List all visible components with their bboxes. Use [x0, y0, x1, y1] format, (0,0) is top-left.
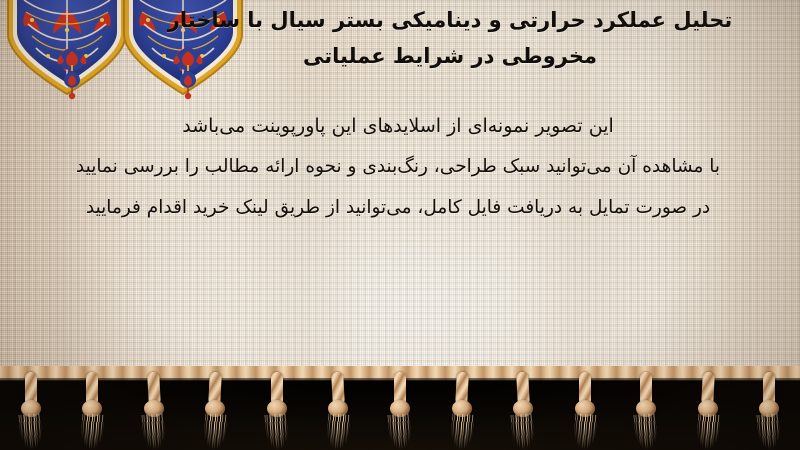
tassel-skirt [141, 413, 166, 450]
knotted-tassel-fringe [0, 366, 800, 450]
fringe-tassel [510, 372, 536, 450]
tassel-skirt [572, 413, 597, 450]
slide-body-line-3: در صورت تمایل به دریافت فایل کامل، می‌تو… [18, 188, 778, 228]
fringe-tassel [387, 372, 413, 450]
tassel-skirt [695, 413, 720, 450]
fringe-tassel [756, 372, 782, 450]
fringe-tassel [202, 372, 228, 450]
tassel-skirt [634, 413, 659, 450]
slide-title-line-2: مخروطی در شرایط عملیاتی [303, 44, 597, 68]
tassel-skirt [449, 413, 474, 450]
slide-title: تحلیل عملکرد حرارتی و دینامیکی بستر سیال… [130, 2, 770, 74]
tassel-skirt [387, 413, 412, 450]
tassel-skirt [203, 413, 228, 450]
slide-body-line-2: با مشاهده آن می‌توانید سبک طراحی، رنگ‌بن… [18, 147, 778, 187]
slide-title-line-1: تحلیل عملکرد حرارتی و دینامیکی بستر سیال… [168, 8, 732, 32]
fringe-tassel [264, 372, 290, 450]
slide-body-line-1: این تصویر نمونه‌ای از اسلایدهای این پاور… [18, 106, 778, 147]
fringe-tassel [633, 372, 659, 450]
fringe-tassel [18, 372, 44, 450]
slide-body: این تصویر نمونه‌ای از اسلایدهای این پاور… [18, 106, 778, 228]
tassel-skirt [757, 413, 782, 450]
fringe-tassel [141, 372, 167, 450]
slide-text-layer: تحلیل عملکرد حرارتی و دینامیکی بستر سیال… [0, 0, 800, 392]
fringe-tassel [572, 372, 598, 450]
fringe-tassel [79, 372, 105, 450]
tassel-skirt [326, 413, 351, 450]
fringe-tassel [449, 372, 475, 450]
tassel-skirt [510, 413, 535, 450]
presentation-slide: تحلیل عملکرد حرارتی و دینامیکی بستر سیال… [0, 0, 800, 450]
fringe-tassel [325, 372, 351, 450]
tassel-skirt [80, 413, 105, 450]
fringe-tassel [695, 372, 721, 450]
tassel-skirt [18, 413, 43, 450]
tassel-skirt [264, 413, 289, 450]
